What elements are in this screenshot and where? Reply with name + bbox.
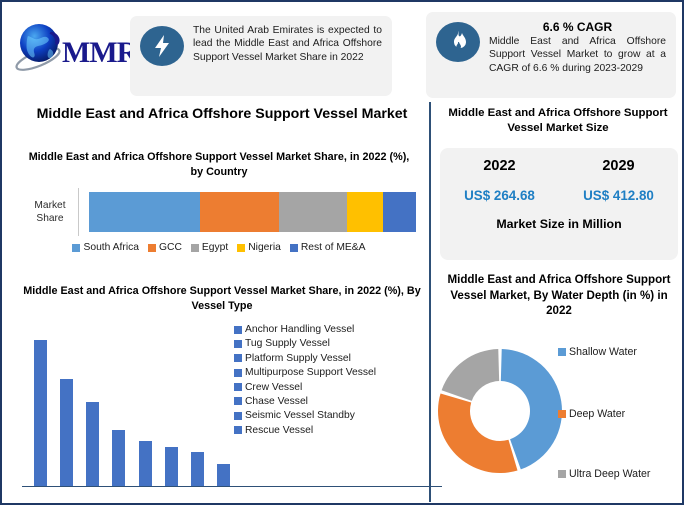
legend-swatch — [191, 244, 199, 252]
legend-item-vessel-type[interactable]: Rescue Vessel — [234, 425, 430, 436]
callout-text-uae: The United Arab Emirates is expected to … — [193, 24, 382, 64]
legend-swatch — [558, 410, 566, 418]
legend-item-country[interactable]: Egypt — [191, 242, 228, 253]
legend-label: Shallow Water — [569, 346, 637, 358]
legend-item-vessel-type[interactable]: Seismic Vessel Standby — [234, 410, 430, 421]
legend-label: GCC — [159, 242, 182, 253]
legend-item-water-depth[interactable]: Deep Water — [558, 408, 625, 420]
legend-label: Ultra Deep Water — [569, 468, 650, 480]
page-title: Middle East and Africa Offshore Support … — [16, 106, 428, 122]
legend-label: Egypt — [202, 242, 228, 253]
water-depth-donut — [434, 335, 566, 487]
legend-swatch — [234, 383, 242, 391]
vessel-type-bars — [34, 340, 230, 486]
legend-label: Nigeria — [248, 242, 281, 253]
donut-slice[interactable] — [438, 393, 518, 473]
market-size-value-end: US$ 412.80 — [559, 188, 678, 203]
country-share-legend: South AfricaGCCEgyptNigeriaRest of ME&A — [22, 242, 416, 253]
vessel-type-bar[interactable] — [191, 452, 204, 486]
legend-swatch — [237, 244, 245, 252]
vessel-type-bar[interactable] — [139, 441, 152, 486]
stacked-bar-segment[interactable] — [89, 192, 200, 232]
vessel-type-chart: Middle East and Africa Offshore Support … — [16, 284, 428, 499]
legend-item-country[interactable]: Nigeria — [237, 242, 281, 253]
legend-item-vessel-type[interactable]: Multipurpose Support Vessel — [234, 367, 430, 378]
legend-swatch — [72, 244, 80, 252]
legend-swatch — [234, 397, 242, 405]
legend-swatch — [234, 354, 242, 362]
legend-swatch — [234, 340, 242, 348]
legend-label: Seismic Vessel Standby — [245, 410, 355, 421]
legend-label: Chase Vessel — [245, 396, 308, 407]
market-size-footer: Market Size in Million — [440, 203, 678, 231]
legend-item-country[interactable]: GCC — [148, 242, 182, 253]
water-depth-legend: Shallow WaterDeep WaterUltra Deep Water — [558, 338, 684, 488]
legend-swatch — [558, 348, 566, 356]
country-share-chart: Middle East and Africa Offshore Support … — [22, 150, 416, 270]
callout-card-uae: The United Arab Emirates is expected to … — [130, 16, 392, 96]
chart-axis-line — [78, 188, 79, 236]
donut-slice[interactable] — [442, 349, 500, 401]
legend-label: Crew Vessel — [245, 382, 302, 393]
stacked-bar-series — [89, 192, 416, 232]
legend-item-country[interactable]: South Africa — [72, 242, 139, 253]
country-share-title: Middle East and Africa Offshore Support … — [22, 150, 416, 180]
legend-swatch — [148, 244, 156, 252]
legend-swatch — [290, 244, 298, 252]
callout-text-cagr: Middle East and Africa Offshore Support … — [489, 35, 666, 75]
infographic-canvas: MMR The United Arab Emirates is expected… — [0, 0, 684, 505]
vessel-type-bar[interactable] — [217, 464, 230, 486]
legend-label: Rest of ME&A — [301, 242, 366, 253]
market-size-value-start: US$ 264.68 — [440, 188, 559, 203]
legend-label: Tug Supply Vessel — [245, 338, 330, 349]
legend-label: South Africa — [83, 242, 139, 253]
vessel-chart-baseline — [22, 486, 442, 488]
market-size-year-end: 2029 — [559, 158, 678, 174]
legend-item-water-depth[interactable]: Ultra Deep Water — [558, 468, 650, 480]
vertical-divider — [429, 102, 431, 502]
legend-label: Anchor Handling Vessel — [245, 324, 354, 335]
vessel-type-legend: Anchor Handling VesselTug Supply VesselP… — [234, 324, 430, 439]
legend-swatch — [234, 369, 242, 377]
legend-swatch — [234, 326, 242, 334]
market-size-card: 2022 2029 US$ 264.68 US$ 412.80 Market S… — [440, 148, 678, 260]
flame-icon — [436, 22, 480, 62]
legend-label: Platform Supply Vessel — [245, 353, 351, 364]
vessel-type-bar[interactable] — [165, 447, 178, 486]
legend-swatch — [558, 470, 566, 478]
legend-label: Deep Water — [569, 408, 625, 420]
legend-swatch — [234, 426, 242, 434]
stacked-bar-segment[interactable] — [279, 192, 348, 232]
legend-item-water-depth[interactable]: Shallow Water — [558, 346, 637, 358]
vessel-type-bar[interactable] — [86, 402, 99, 486]
legend-item-vessel-type[interactable]: Tug Supply Vessel — [234, 338, 430, 349]
legend-item-vessel-type[interactable]: Platform Supply Vessel — [234, 353, 430, 364]
water-depth-title: Middle East and Africa Offshore Support … — [436, 272, 682, 319]
stacked-bar-segment[interactable] — [383, 192, 416, 232]
lightning-bolt-icon — [140, 26, 184, 66]
stacked-bar-segment[interactable] — [347, 192, 383, 232]
brand-name: MMR — [62, 36, 137, 70]
legend-item-vessel-type[interactable]: Chase Vessel — [234, 396, 430, 407]
vessel-type-bar[interactable] — [60, 379, 73, 486]
vessel-type-bar[interactable] — [34, 340, 47, 486]
legend-label: Multipurpose Support Vessel — [245, 367, 376, 378]
legend-item-vessel-type[interactable]: Anchor Handling Vessel — [234, 324, 430, 335]
legend-label: Rescue Vessel — [245, 425, 313, 436]
globe-icon — [14, 19, 70, 75]
callout-card-cagr: 6.6 % CAGR Middle East and Africa Offsho… — [426, 12, 676, 98]
vessel-type-bar[interactable] — [112, 430, 125, 486]
market-size-year-start: 2022 — [440, 158, 559, 174]
vessel-type-title: Middle East and Africa Offshore Support … — [16, 284, 428, 314]
market-size-title: Middle East and Africa Offshore Support … — [434, 106, 682, 136]
cagr-heading: 6.6 % CAGR — [489, 20, 666, 34]
legend-item-vessel-type[interactable]: Crew Vessel — [234, 382, 430, 393]
stacked-bar-segment[interactable] — [200, 192, 278, 232]
legend-item-country[interactable]: Rest of ME&A — [290, 242, 366, 253]
country-share-axis-label: Market Share — [22, 199, 78, 225]
legend-swatch — [234, 412, 242, 420]
